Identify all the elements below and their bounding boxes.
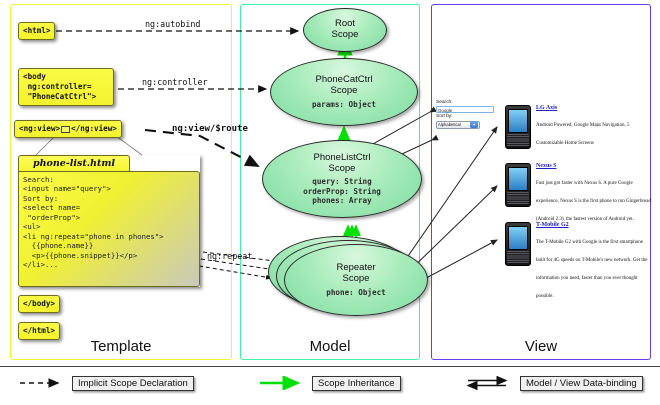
scope-phonelistctrl-props: query: String orderProp: String phones: … [303, 177, 381, 205]
scope-repeater: Repeater Scope phone: Object [284, 244, 428, 316]
arrow-label-ng-controller: ng:controller [142, 77, 208, 87]
phone-description: The T-Mobile G2 with Google is the first… [536, 240, 647, 299]
column-label-template: Template [11, 338, 231, 355]
arrow-label-ng-repeat: ng:repeat [207, 251, 252, 261]
legend-item-data-binding: Model / View Data-binding [466, 375, 643, 391]
legend-label-scope-inheritance: Scope Inheritance [312, 376, 401, 391]
phone-name-link[interactable]: T-Mobile G2 [536, 222, 651, 228]
diagram-canvas: Template Model View [0, 0, 660, 405]
double-arrow-icon [466, 376, 514, 390]
column-label-view: View [432, 338, 650, 355]
file-card-title: phone-list.html [18, 155, 130, 172]
phone-description: Fast just got faster with Nexus S. A pur… [536, 181, 651, 222]
phone-thumbnail-icon [505, 105, 531, 149]
chevron-down-icon: ▾ [470, 121, 478, 128]
phone-description: Android Powered, Google Maps Navigation,… [536, 123, 629, 146]
scope-phonecatctrl-props: params: Object [312, 100, 376, 109]
code-tag-html: <html> [18, 22, 55, 40]
legend-item-scope-inheritance: Scope Inheritance [258, 375, 401, 391]
code-tag-body: <body ng:controller= "PhoneCatCtrl"> [18, 68, 114, 106]
arrow-label-ng-view-route: ng:view/$route [172, 124, 248, 134]
green-arrow-icon [258, 376, 306, 390]
scope-repeater-title: Repeater Scope [336, 263, 375, 284]
phone-name-link[interactable]: LG Axis [536, 105, 651, 111]
legend-label-implicit-scope: Implicit Scope Declaration [72, 376, 194, 391]
scope-phonelistctrl-title: PhoneListCtrl Scope [313, 153, 370, 174]
scope-root-title: Root Scope [332, 19, 359, 40]
column-label-model: Model [241, 338, 419, 355]
view-search-form: Search: Google Sort by: Alphabetical ▾ [436, 100, 498, 129]
ngview-close-label: </ng:view> [71, 124, 117, 133]
dashed-arrow-icon [18, 376, 66, 390]
phone-list-item[interactable]: LG Axis Android Powered, Google Maps Nav… [505, 105, 651, 149]
sort-label: Sort by: [436, 114, 498, 120]
phone-list-item[interactable]: Nexus S Fast just got faster with Nexus … [505, 163, 651, 225]
file-card-phone-list: phone-list.html Search: <input name="que… [18, 155, 200, 287]
ngview-open-label: <ng:view> [19, 124, 60, 133]
phone-thumbnail-icon [505, 222, 531, 266]
phone-thumbnail-icon [505, 163, 531, 207]
scope-phonelistctrl: PhoneListCtrl Scope query: String orderP… [262, 140, 422, 218]
sort-select[interactable]: Alphabetical ▾ [436, 121, 480, 129]
search-input[interactable]: Google [436, 106, 494, 113]
legend-label-data-binding: Model / View Data-binding [520, 376, 643, 391]
code-tag-html-close: </html> [18, 322, 60, 340]
arrow-label-ng-autobind: ng:autobind [145, 19, 200, 29]
phone-name-link[interactable]: Nexus S [536, 163, 651, 169]
code-tag-ngview: <ng:view></ng:view> [14, 120, 122, 138]
search-label: Search: [436, 100, 498, 106]
legend: Implicit Scope Declaration Scope Inherit… [0, 366, 660, 405]
ngview-placeholder-icon [61, 126, 70, 133]
scope-phonecatctrl: PhoneCatCtrl Scope params: Object [270, 58, 418, 126]
scope-phonecatctrl-title: PhoneCatCtrl Scope [315, 75, 372, 96]
file-card-code: Search: <input name="query"> Sort by: <s… [18, 171, 200, 287]
sort-select-value: Alphabetical [438, 122, 461, 127]
scope-root: Root Scope [303, 8, 387, 52]
phone-list-item[interactable]: T-Mobile G2 The T-Mobile G2 with Google … [505, 222, 651, 302]
scope-repeater-props: phone: Object [326, 288, 385, 297]
legend-item-implicit-scope: Implicit Scope Declaration [18, 375, 194, 391]
code-tag-body-close: </body> [18, 295, 60, 313]
